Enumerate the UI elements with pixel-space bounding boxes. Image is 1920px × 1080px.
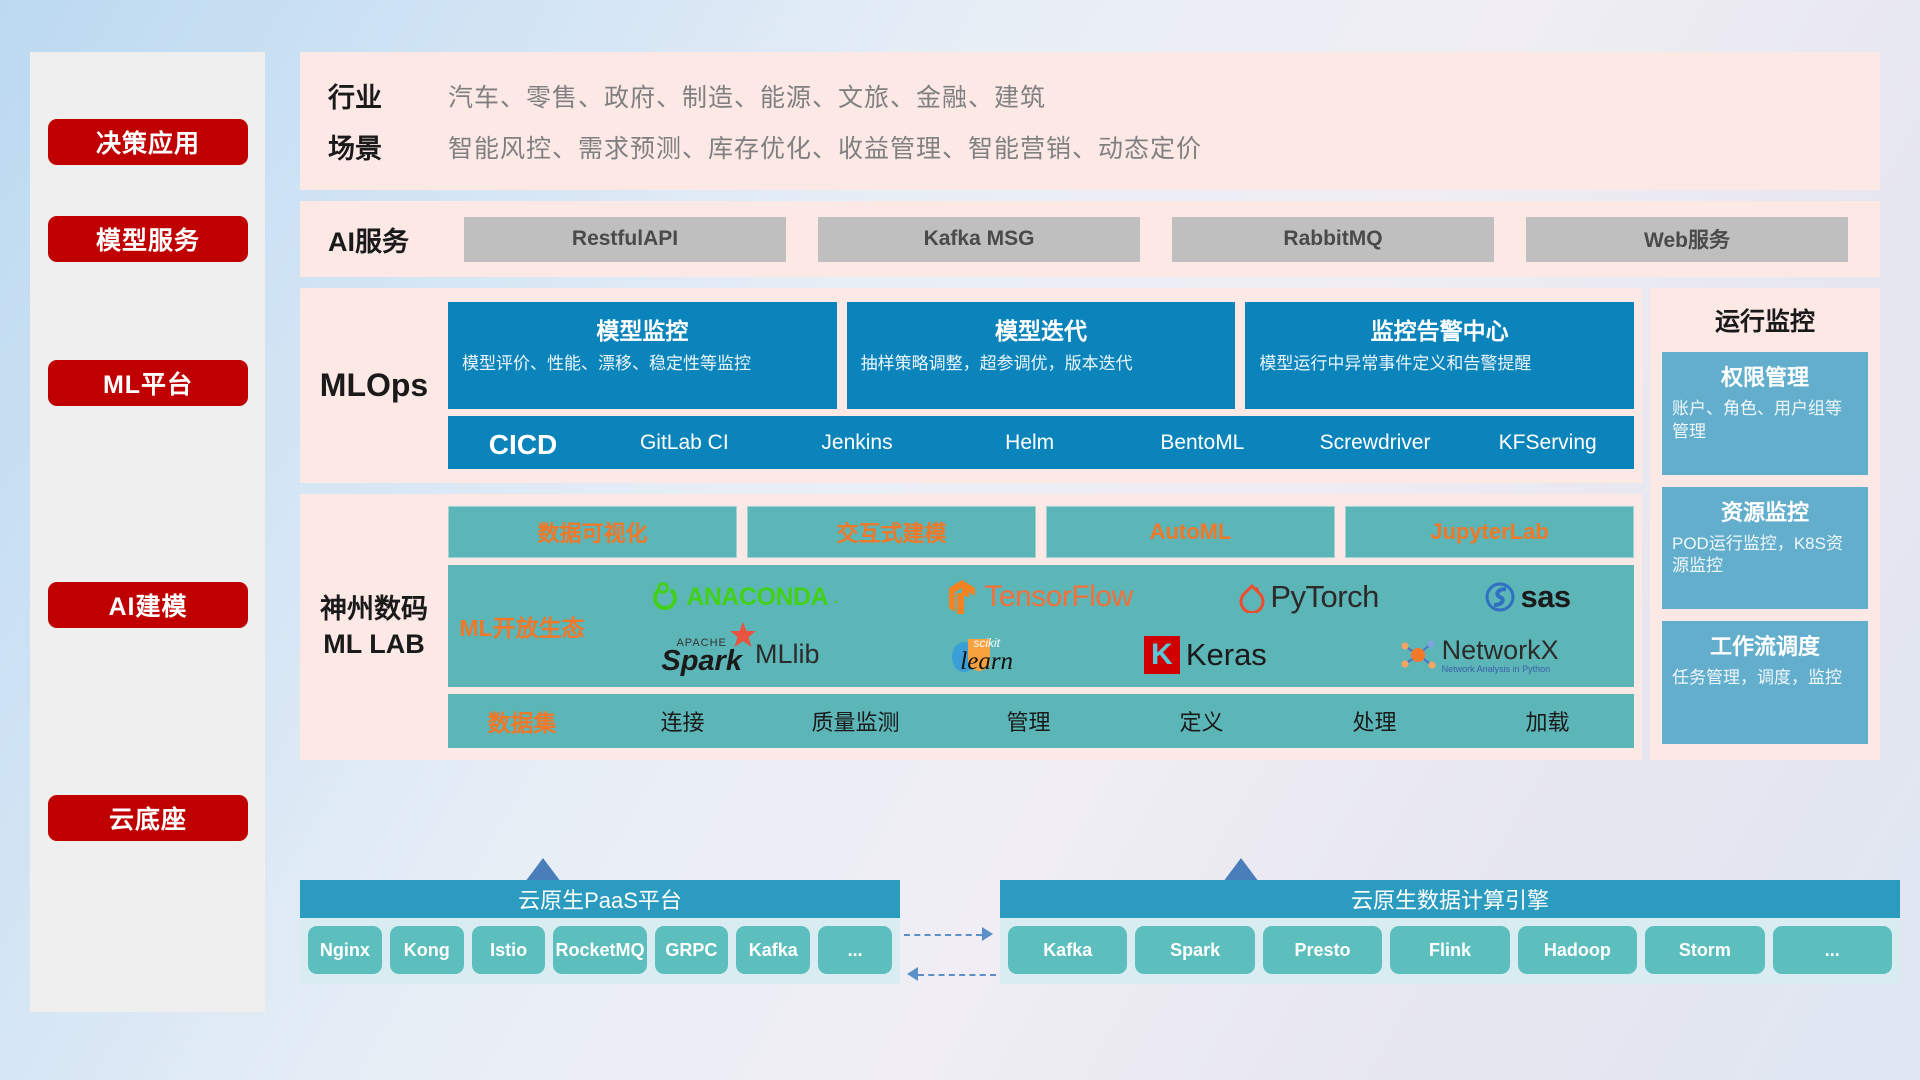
left-rail: 决策应用 模型服务 ML平台 AI建模 云底座 — [30, 52, 265, 1012]
engine-chip-hadoop[interactable]: Hadoop — [1518, 926, 1637, 974]
mlops-body: 模型监控 模型评价、性能、漂移、稳定性等监控 模型迭代 抽样策略调整，超参调优，… — [448, 302, 1642, 469]
scikit-learn-logo: scikit learn — [950, 633, 1013, 677]
monitor-card-resource-monitoring[interactable]: 资源监控 POD运行监控，K8S资源监控 — [1662, 487, 1868, 610]
pytorch-logo: PyTorch — [1239, 579, 1378, 615]
networkx-tagline: Network Analysis in Python — [1442, 664, 1559, 674]
paas-chip-more[interactable]: ... — [818, 926, 892, 974]
tensorflow-icon — [945, 578, 979, 616]
paas-platform-title: 云原生PaaS平台 — [300, 880, 900, 918]
mlops-label: MLOps — [300, 302, 448, 469]
arrow-left-icon — [907, 967, 918, 981]
keras-k-badge: K — [1144, 636, 1180, 674]
engine-chip-storm[interactable]: Storm — [1645, 926, 1764, 974]
tab-data-visualization[interactable]: 数据可视化 — [448, 506, 737, 558]
scikit-bottom-text: learn — [960, 650, 1013, 674]
monitor-card-permission-management[interactable]: 权限管理 账户、角色、用户组等管理 — [1662, 352, 1868, 475]
dataset-item-quality-monitoring[interactable]: 质量监测 — [769, 705, 942, 737]
card-title: 模型迭代 — [995, 312, 1087, 346]
anaconda-logo-text: ANACONDA — [686, 583, 828, 612]
tab-interactive-modeling[interactable]: 交互式建模 — [747, 506, 1036, 558]
runtime-monitoring-rail: 运行监控 权限管理 账户、角色、用户组等管理 资源监控 POD运行监控，K8S资… — [1650, 288, 1880, 760]
ml-lab-label-line1: 神州数码 — [320, 592, 428, 627]
data-engine-chips: Kafka Spark Presto Flink Hadoop Storm ..… — [1000, 918, 1900, 984]
engine-chip-more[interactable]: ... — [1773, 926, 1892, 974]
paas-chip-istio[interactable]: Istio — [472, 926, 546, 974]
bidirectional-connector — [904, 926, 996, 988]
mlops-cards: 模型监控 模型评价、性能、漂移、稳定性等监控 模型迭代 抽样策略调整，超参调优，… — [448, 302, 1634, 409]
scenario-value: 智能风控、需求预测、库存优化、收益管理、智能营销、动态定价 — [448, 129, 1202, 165]
data-compute-engine-title: 云原生数据计算引擎 — [1000, 880, 1900, 918]
runtime-monitoring-title: 运行监控 — [1662, 302, 1868, 338]
ai-service-item-kafka-msg[interactable]: Kafka MSG — [818, 217, 1140, 262]
ml-lab-label-line2: ML LAB — [323, 627, 425, 662]
anaconda-logo: ANACONDA . — [649, 581, 838, 613]
ml-ecosystem-logos: ANACONDA . T — [596, 569, 1634, 683]
logo-row-2: APACHE Spark MLlib — [596, 627, 1624, 683]
arrow-up-paas-icon — [525, 858, 561, 882]
arrow-right-icon — [982, 927, 993, 941]
spark-star-icon — [728, 621, 758, 649]
ai-service-panel: AI服务 RestfulAPI Kafka MSG RabbitMQ Web服务 — [300, 201, 1880, 277]
scenario-label: 场景 — [328, 127, 448, 166]
logo-row-1: ANACONDA . T — [596, 569, 1624, 625]
mlops-card-model-iteration[interactable]: 模型迭代 抽样策略调整，超参调优，版本迭代 — [847, 302, 1236, 409]
card-desc: 抽样策略调整，超参调优，版本迭代 — [861, 353, 1222, 375]
cicd-item-jenkins[interactable]: Jenkins — [771, 416, 944, 457]
ai-service-item-rabbitmq[interactable]: RabbitMQ — [1172, 217, 1494, 262]
engine-chip-kafka[interactable]: Kafka — [1008, 926, 1127, 974]
networkx-logo-text: NetworkX — [1442, 637, 1559, 664]
industry-label: 行业 — [328, 76, 448, 115]
left-rail-item-ml-platform[interactable]: ML平台 — [48, 360, 248, 406]
paas-chip-kong[interactable]: Kong — [390, 926, 464, 974]
spark-mllib-text: MLlib — [755, 639, 820, 670]
left-rail-item-label: 决策应用 — [96, 124, 200, 160]
mlops-panel: MLOps 模型监控 模型评价、性能、漂移、稳定性等监控 模型迭代 抽样策略调整… — [300, 288, 1642, 483]
card-title: 权限管理 — [1672, 360, 1858, 392]
cicd-item-bentoml[interactable]: BentoML — [1116, 416, 1289, 457]
dataset-item-processing[interactable]: 处理 — [1288, 705, 1461, 737]
cicd-title: CICD — [448, 416, 598, 469]
platform-left-column: MLOps 模型监控 模型评价、性能、漂移、稳定性等监控 模型迭代 抽样策略调整… — [300, 288, 1642, 760]
networkx-icon — [1398, 637, 1438, 673]
pytorch-icon — [1239, 581, 1265, 613]
ml-lab-tabs: 数据可视化 交互式建模 AutoML JupyterLab — [448, 506, 1634, 558]
cicd-item-screwdriver[interactable]: Screwdriver — [1289, 416, 1462, 457]
ml-ecosystem-row: ML开放生态 ANACONDA . — [448, 565, 1634, 687]
anaconda-icon — [649, 581, 681, 613]
dataset-item-connect[interactable]: 连接 — [596, 705, 769, 737]
card-title: 工作流调度 — [1672, 629, 1858, 661]
ai-service-items: RestfulAPI Kafka MSG RabbitMQ Web服务 — [448, 217, 1880, 262]
paas-chip-rocketmq[interactable]: RocketMQ — [553, 926, 646, 974]
industry-scenario-panel: 行业 汽车、零售、政府、制造、能源、文旅、金融、建筑 场景 智能风控、需求预测、… — [300, 52, 1880, 190]
dataset-item-management[interactable]: 管理 — [942, 705, 1115, 737]
spark-mllib-logo: APACHE Spark MLlib — [661, 637, 819, 674]
left-rail-item-label: 模型服务 — [96, 221, 200, 257]
left-rail-item-label: 云底座 — [109, 800, 187, 836]
keras-name-text: Keras — [1186, 637, 1267, 673]
dash-line-left — [918, 974, 996, 976]
dataset-label: 数据集 — [448, 704, 596, 738]
cicd-item-kfserving[interactable]: KFServing — [1461, 416, 1634, 457]
networkx-logo: NetworkX Network Analysis in Python — [1398, 637, 1559, 674]
dataset-item-loading[interactable]: 加载 — [1461, 705, 1634, 737]
cicd-item-helm[interactable]: Helm — [943, 416, 1116, 457]
left-rail-item-ai-modeling[interactable]: AI建模 — [48, 582, 248, 628]
sas-logo: sas — [1485, 579, 1570, 615]
tab-automl[interactable]: AutoML — [1046, 506, 1335, 558]
ai-service-label: AI服务 — [328, 220, 448, 259]
card-desc: 账户、角色、用户组等管理 — [1672, 398, 1858, 444]
card-title: 监控告警中心 — [1371, 312, 1509, 346]
monitor-card-workflow-scheduling[interactable]: 工作流调度 任务管理，调度，监控 — [1662, 621, 1868, 744]
tab-jupyterlab[interactable]: JupyterLab — [1345, 506, 1634, 558]
ai-service-item-restfulapi[interactable]: RestfulAPI — [464, 217, 786, 262]
paas-chips: Nginx Kong Istio RocketMQ GRPC Kafka ... — [300, 918, 900, 984]
sas-icon — [1485, 581, 1515, 613]
paas-chip-grpc[interactable]: GRPC — [655, 926, 729, 974]
card-title: 资源监控 — [1672, 495, 1858, 527]
spark-name-text: Spark — [661, 649, 742, 674]
mlops-card-model-monitoring[interactable]: 模型监控 模型评价、性能、漂移、稳定性等监控 — [448, 302, 837, 409]
paas-chip-kafka[interactable]: Kafka — [736, 926, 810, 974]
ai-service-item-web-service[interactable]: Web服务 — [1526, 217, 1848, 262]
left-rail-item-model-service[interactable]: 模型服务 — [48, 216, 248, 262]
engine-chip-flink[interactable]: Flink — [1390, 926, 1509, 974]
ml-lab-panel: 神州数码 ML LAB 数据可视化 交互式建模 AutoML JupyterLa… — [300, 494, 1642, 760]
platform-section: MLOps 模型监控 模型评价、性能、漂移、稳定性等监控 模型迭代 抽样策略调整… — [300, 288, 1880, 760]
ml-lab-body: 数据可视化 交互式建模 AutoML JupyterLab ML开放生态 — [448, 506, 1642, 748]
card-desc: 模型评价、性能、漂移、稳定性等监控 — [462, 353, 823, 375]
engine-chip-spark[interactable]: Spark — [1135, 926, 1254, 974]
keras-logo: K Keras — [1144, 636, 1267, 674]
sas-logo-text: sas — [1520, 579, 1570, 615]
anaconda-dot: . — [833, 586, 839, 609]
arrow-up-data-engine-icon — [1223, 858, 1259, 882]
tensorflow-logo-text: TensorFlow — [984, 580, 1132, 614]
dataset-item-definition[interactable]: 定义 — [1115, 705, 1288, 737]
industry-row: 行业 汽车、零售、政府、制造、能源、文旅、金融、建筑 — [328, 76, 1880, 115]
industry-value: 汽车、零售、政府、制造、能源、文旅、金融、建筑 — [448, 78, 1046, 114]
scenario-row: 场景 智能风控、需求预测、库存优化、收益管理、智能营销、动态定价 — [328, 127, 1880, 166]
left-rail-item-label: ML平台 — [103, 365, 193, 401]
cicd-item-gitlab-ci[interactable]: GitLab CI — [598, 416, 771, 457]
data-compute-engine-block: 云原生数据计算引擎 Kafka Spark Presto Flink Hadoo… — [1000, 880, 1900, 984]
card-title: 模型监控 — [596, 312, 688, 346]
tensorflow-logo: TensorFlow — [945, 578, 1132, 616]
paas-platform-block: 云原生PaaS平台 Nginx Kong Istio RocketMQ GRPC… — [300, 880, 900, 984]
engine-chip-presto[interactable]: Presto — [1263, 926, 1382, 974]
cloud-foundation-section: 云原生PaaS平台 Nginx Kong Istio RocketMQ GRPC… — [300, 880, 1900, 1060]
left-rail-item-cloud-base[interactable]: 云底座 — [48, 795, 248, 841]
paas-chip-nginx[interactable]: Nginx — [308, 926, 382, 974]
ml-lab-label: 神州数码 ML LAB — [300, 506, 448, 748]
left-rail-item-decision-app[interactable]: 决策应用 — [48, 119, 248, 165]
mlops-card-alert-center[interactable]: 监控告警中心 模型运行中异常事件定义和告警提醒 — [1245, 302, 1634, 409]
dash-line-right — [904, 934, 982, 936]
pytorch-logo-text: PyTorch — [1270, 579, 1378, 615]
card-desc: POD运行监控，K8S资源监控 — [1672, 533, 1858, 579]
left-rail-item-label: AI建模 — [108, 587, 187, 623]
card-desc: 模型运行中异常事件定义和告警提醒 — [1259, 353, 1620, 375]
cicd-bar: CICD GitLab CI Jenkins Helm BentoML Scre… — [448, 416, 1634, 469]
ml-ecosystem-label: ML开放生态 — [448, 609, 596, 643]
main-diagram: 行业 汽车、零售、政府、制造、能源、文旅、金融、建筑 场景 智能风控、需求预测、… — [300, 52, 1880, 760]
card-desc: 任务管理，调度，监控 — [1672, 667, 1858, 690]
dataset-row: 数据集 连接 质量监测 管理 定义 处理 加载 — [448, 694, 1634, 748]
